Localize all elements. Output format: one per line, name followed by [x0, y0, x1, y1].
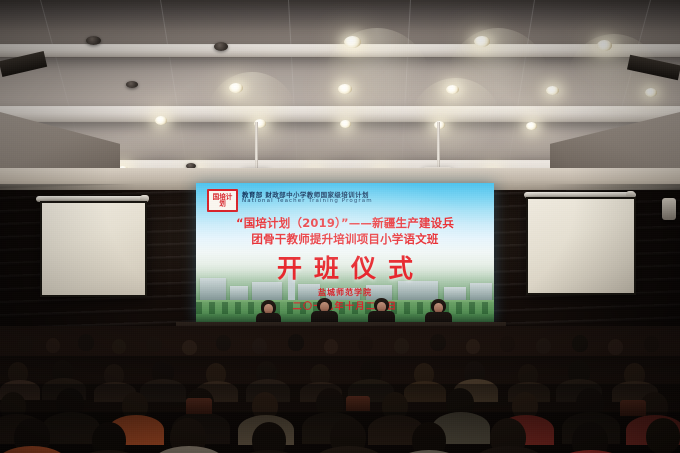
left-projection-screen: [40, 201, 147, 297]
ceiling-downlight: [526, 122, 537, 130]
ceiling-downlight: [474, 36, 490, 47]
ceiling-beam: [0, 44, 680, 57]
banner-title-line1: “国培计划（2019）”——新疆生产建设兵: [196, 215, 494, 231]
wall-speaker-icon: [662, 198, 676, 220]
program-logo-text: 国培计划: [210, 194, 235, 207]
ceiling-downlight: [340, 120, 351, 128]
ceiling-downlight: [446, 85, 459, 94]
banner-organization: 盐城师范学院: [196, 287, 494, 298]
audience: [0, 326, 680, 453]
ceiling-downlight: [338, 84, 352, 94]
ceiling-downlight: [645, 88, 657, 97]
ceiling-downlight: [229, 83, 243, 93]
ceiling: [0, 0, 680, 190]
ceiling-downlight: [155, 116, 167, 125]
banner-header-en: National Teacher Training Program: [242, 198, 373, 204]
ceiling-speaker-icon: [86, 36, 101, 45]
program-logo-icon: 国培计划: [207, 189, 238, 212]
ceiling-downlight: [344, 36, 361, 48]
ceiling-speaker-icon: [126, 81, 138, 88]
ceiling-downlight: [546, 86, 559, 95]
ceiling-downlight: [597, 40, 612, 51]
banner-headline: 开班仪式: [196, 249, 494, 285]
banner-title-line2: 团骨干教师提升培训项目小学语文班: [196, 231, 494, 247]
right-projection-screen: [526, 197, 636, 295]
ceiling-speaker-icon: [214, 42, 228, 51]
auditorium-photo: 国培计划 教育部 财政部中小学教师国家级培训计划 National Teache…: [0, 0, 680, 453]
ceiling-beam: [0, 106, 680, 122]
